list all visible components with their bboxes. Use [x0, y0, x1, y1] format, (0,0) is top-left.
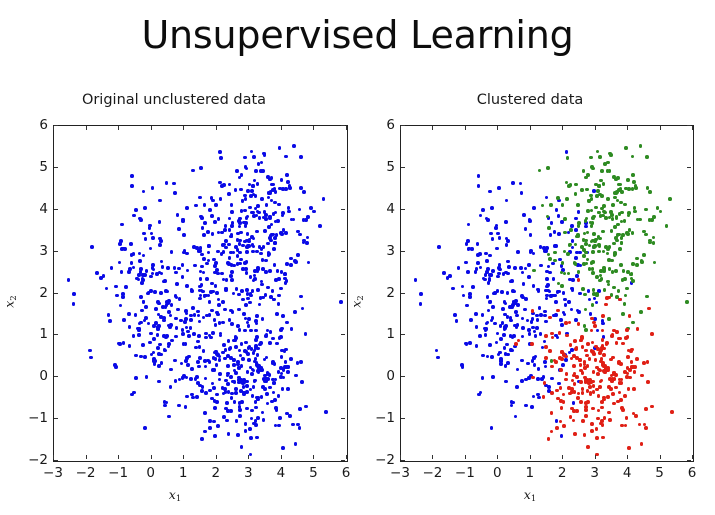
data-point: [567, 300, 571, 304]
data-point: [613, 377, 617, 381]
data-point: [177, 267, 181, 271]
data-point: [226, 382, 230, 386]
data-point: [210, 214, 214, 218]
data-point: [240, 289, 244, 293]
data-point: [539, 264, 543, 268]
data-point: [509, 319, 513, 323]
x-tick-mark: [216, 455, 217, 459]
y-axis-label-right-sub: 2: [356, 295, 366, 300]
data-point: [615, 341, 619, 345]
data-point: [244, 197, 248, 201]
data-point: [577, 224, 581, 228]
data-point: [577, 310, 581, 314]
data-point: [253, 380, 257, 384]
slide-canvas: Unsupervised Learning Original uncluster…: [0, 0, 715, 515]
data-point: [607, 385, 611, 389]
data-point: [108, 319, 112, 323]
data-point: [275, 342, 279, 346]
data-point: [550, 430, 554, 434]
data-point: [462, 294, 466, 298]
data-point: [532, 395, 536, 399]
data-point: [137, 333, 141, 337]
x-tick-mark: [627, 126, 628, 130]
data-point: [597, 243, 601, 247]
data-point: [481, 354, 485, 358]
data-point: [488, 278, 492, 282]
data-point: [611, 217, 615, 221]
data-point: [249, 329, 253, 333]
data-point: [584, 401, 588, 405]
data-point: [256, 288, 260, 292]
data-point: [90, 245, 94, 249]
data-point: [244, 429, 248, 433]
data-point: [497, 272, 501, 276]
data-point: [237, 219, 241, 223]
data-point: [581, 391, 585, 395]
data-point: [602, 204, 606, 208]
data-point: [124, 285, 128, 289]
data-point: [226, 364, 230, 368]
data-point: [631, 155, 635, 159]
data-point: [270, 400, 274, 404]
data-point: [204, 391, 208, 395]
data-point: [230, 203, 234, 207]
data-point: [234, 387, 238, 391]
data-point: [531, 309, 535, 313]
data-point: [502, 333, 506, 337]
data-point: [576, 396, 580, 400]
data-point: [285, 173, 289, 177]
data-point: [162, 319, 166, 323]
data-point: [600, 406, 604, 410]
data-point: [560, 220, 564, 224]
data-point: [260, 395, 264, 399]
x-tick-label: 5: [655, 465, 664, 481]
data-point: [115, 294, 119, 298]
data-point: [547, 265, 551, 269]
data-point: [583, 293, 587, 297]
data-point: [486, 355, 490, 359]
data-point: [273, 241, 277, 245]
data-point: [495, 247, 499, 251]
data-point: [623, 219, 627, 223]
data-point: [217, 217, 221, 221]
data-point: [601, 436, 605, 440]
data-point: [304, 405, 308, 409]
data-point: [553, 251, 557, 255]
data-point: [504, 220, 508, 224]
data-point: [230, 270, 234, 274]
data-point: [572, 364, 576, 368]
data-point: [281, 314, 285, 318]
data-point: [191, 306, 195, 310]
y-tick-mark: [54, 251, 58, 252]
y-tick-mark: [54, 209, 58, 210]
data-point: [322, 197, 326, 201]
data-point: [187, 334, 191, 338]
data-point: [563, 217, 567, 221]
data-point: [203, 411, 207, 415]
data-point: [123, 247, 127, 251]
data-point: [505, 199, 509, 203]
x-tick-mark: [530, 126, 531, 130]
data-point: [595, 436, 599, 440]
data-point: [551, 336, 555, 340]
data-point: [127, 270, 131, 274]
data-point: [248, 238, 252, 242]
data-point: [619, 201, 623, 205]
data-point: [142, 254, 146, 258]
data-point: [602, 182, 606, 186]
data-point: [208, 360, 212, 364]
data-point: [200, 283, 204, 287]
data-point: [522, 282, 526, 286]
data-point: [578, 292, 582, 296]
data-point: [587, 289, 591, 293]
data-point: [599, 380, 603, 384]
data-point: [107, 313, 111, 317]
data-point: [268, 191, 272, 195]
data-point: [208, 313, 212, 317]
data-point: [152, 337, 156, 341]
data-point: [211, 382, 215, 386]
y-tick-label: −2: [369, 452, 395, 468]
data-point: [279, 335, 283, 339]
data-point: [668, 197, 672, 201]
data-point: [479, 214, 483, 218]
data-point: [544, 356, 548, 360]
data-point: [532, 269, 536, 273]
data-point: [181, 332, 185, 336]
data-point: [512, 300, 516, 304]
data-point: [167, 342, 171, 346]
data-point: [268, 215, 272, 219]
data-point: [167, 415, 171, 419]
data-point: [285, 321, 289, 325]
data-point: [230, 278, 234, 282]
data-point: [259, 169, 263, 173]
data-point: [596, 150, 600, 154]
data-point: [594, 244, 598, 248]
data-point: [565, 197, 569, 201]
data-point: [501, 307, 505, 311]
data-point: [244, 422, 248, 426]
data-point: [524, 297, 528, 301]
data-point: [559, 420, 563, 424]
x-tick-mark: [692, 455, 693, 459]
data-point: [603, 162, 607, 166]
data-point: [150, 232, 154, 236]
data-point: [246, 297, 250, 301]
data-point: [543, 340, 547, 344]
data-point: [591, 350, 595, 354]
data-point: [579, 380, 583, 384]
data-point: [222, 415, 226, 419]
data-point: [543, 249, 547, 253]
data-point: [620, 406, 624, 410]
data-point: [251, 250, 255, 254]
data-point: [543, 360, 547, 364]
data-point: [568, 321, 572, 325]
data-point: [195, 395, 199, 399]
data-point: [598, 385, 602, 389]
data-point: [302, 190, 306, 194]
y-tick-label: 1: [369, 326, 395, 342]
data-point: [670, 410, 674, 414]
data-point: [584, 405, 588, 409]
data-point: [542, 375, 546, 379]
data-point: [272, 247, 276, 251]
data-point: [233, 400, 237, 404]
data-point: [626, 366, 630, 370]
data-point: [265, 356, 269, 360]
data-point: [246, 232, 250, 236]
data-point: [610, 229, 614, 233]
data-point: [577, 210, 581, 214]
x-tick-mark: [497, 126, 498, 130]
data-point: [224, 246, 228, 250]
data-point: [652, 241, 656, 245]
data-point: [626, 335, 630, 339]
data-point: [589, 312, 593, 316]
data-point: [203, 430, 207, 434]
data-point: [261, 296, 265, 300]
data-point: [612, 175, 616, 179]
data-point: [213, 399, 217, 403]
data-point: [156, 300, 160, 304]
data-point: [635, 263, 639, 267]
data-point: [162, 334, 166, 338]
data-point: [217, 303, 221, 307]
data-point: [176, 213, 180, 217]
data-point: [546, 166, 550, 170]
data-point: [278, 416, 282, 420]
x-axis-label-right-text: x: [524, 487, 531, 502]
data-point: [286, 387, 290, 391]
data-point: [639, 144, 643, 148]
data-point: [289, 257, 293, 261]
data-point: [565, 372, 569, 376]
data-point: [166, 266, 170, 270]
data-point: [559, 368, 563, 372]
y-tick-mark: [401, 376, 405, 377]
data-point: [609, 210, 613, 214]
data-point: [284, 360, 288, 364]
data-point: [147, 322, 151, 326]
data-point: [219, 334, 223, 338]
data-point: [301, 307, 305, 311]
data-point: [491, 305, 495, 309]
scatter-plot-unclustered[interactable]: [53, 125, 348, 462]
data-point: [197, 334, 201, 338]
x-tick-mark: [183, 126, 184, 130]
data-point: [576, 203, 580, 207]
data-point: [549, 233, 553, 237]
data-point: [620, 190, 624, 194]
data-point: [290, 327, 294, 331]
data-point: [484, 333, 488, 337]
x-tick-mark: [183, 455, 184, 459]
data-point: [263, 153, 267, 157]
data-point: [582, 254, 586, 258]
data-point: [524, 404, 528, 408]
data-point: [550, 391, 554, 395]
data-point: [192, 332, 196, 336]
data-point: [646, 360, 650, 364]
data-point: [583, 433, 587, 437]
scatter-plot-clustered[interactable]: [400, 125, 694, 462]
data-point: [607, 317, 611, 321]
data-point: [202, 257, 206, 261]
data-point: [591, 167, 595, 171]
data-point: [259, 252, 263, 256]
data-point: [213, 264, 217, 268]
data-point: [215, 363, 219, 367]
data-point: [211, 331, 215, 335]
data-point: [601, 322, 605, 326]
data-point: [524, 267, 528, 271]
data-point: [592, 288, 596, 292]
data-point: [161, 305, 165, 309]
y-tick-mark: [341, 293, 345, 294]
data-point: [491, 375, 495, 379]
y-tick-mark: [687, 251, 691, 252]
data-point: [633, 370, 637, 374]
x-tick-label: 0: [146, 465, 155, 481]
data-point: [635, 357, 639, 361]
data-point: [132, 266, 136, 270]
data-point: [170, 303, 174, 307]
data-point: [134, 376, 138, 380]
data-point: [235, 419, 239, 423]
data-point: [210, 309, 214, 313]
data-point: [478, 334, 482, 338]
data-point: [184, 342, 188, 346]
data-point: [601, 338, 605, 342]
data-point: [208, 426, 212, 430]
data-point: [253, 277, 257, 281]
data-point: [617, 289, 621, 293]
data-point: [618, 298, 622, 302]
data-point: [207, 244, 211, 248]
data-point: [298, 208, 302, 212]
data-point: [477, 393, 481, 397]
data-point: [174, 317, 178, 321]
data-point: [165, 300, 169, 304]
x-axis-label-left-sub: 1: [176, 494, 181, 504]
data-point: [277, 277, 281, 281]
data-point: [571, 239, 575, 243]
data-point: [240, 209, 244, 213]
data-point: [562, 393, 566, 397]
data-point: [564, 378, 568, 382]
data-point: [590, 209, 594, 213]
data-point: [289, 263, 293, 267]
data-point: [591, 303, 595, 307]
data-point: [603, 268, 607, 272]
data-point: [586, 445, 590, 449]
data-point: [625, 287, 629, 291]
data-point: [559, 399, 563, 403]
data-point: [195, 375, 199, 379]
data-point: [261, 385, 265, 389]
data-point: [185, 206, 189, 210]
data-point: [543, 381, 547, 385]
y-tick-mark: [687, 293, 691, 294]
data-point: [510, 400, 514, 404]
data-point: [229, 375, 233, 379]
data-point: [623, 370, 627, 374]
data-point: [134, 208, 138, 212]
data-point: [618, 391, 622, 395]
data-point: [281, 446, 285, 450]
data-point: [533, 363, 537, 367]
data-point: [611, 392, 615, 396]
data-point: [258, 216, 262, 220]
data-point: [435, 349, 439, 353]
data-point: [198, 320, 202, 324]
data-point: [186, 269, 190, 273]
data-point: [481, 376, 485, 380]
data-point: [419, 292, 423, 296]
data-point: [598, 184, 602, 188]
y-tick-mark: [401, 334, 405, 335]
data-point: [580, 336, 584, 340]
data-point: [205, 262, 209, 266]
data-point: [204, 377, 208, 381]
data-point: [265, 203, 269, 207]
data-point: [198, 356, 202, 360]
data-point: [499, 324, 503, 328]
data-point: [224, 287, 228, 291]
data-point: [608, 245, 612, 249]
data-point: [532, 206, 536, 210]
data-point: [138, 252, 142, 256]
data-point: [266, 242, 270, 246]
data-point: [553, 259, 557, 263]
data-point: [601, 361, 605, 365]
data-point: [296, 361, 300, 365]
data-point: [247, 358, 251, 362]
data-point: [185, 326, 189, 330]
data-point: [573, 432, 577, 436]
data-point: [620, 211, 624, 215]
data-point: [259, 341, 263, 345]
data-point: [569, 343, 573, 347]
data-point: [624, 146, 628, 150]
data-point: [595, 294, 599, 298]
data-point: [560, 406, 564, 410]
data-point: [186, 363, 190, 367]
data-point: [510, 404, 514, 408]
data-point: [573, 261, 577, 265]
data-point: [631, 279, 635, 283]
data-point: [606, 395, 610, 399]
data-point: [225, 401, 229, 405]
data-point: [243, 261, 247, 265]
data-point: [503, 313, 507, 317]
data-point: [156, 346, 160, 350]
x-tick-mark: [86, 126, 87, 130]
data-point: [130, 261, 134, 265]
data-point: [292, 144, 296, 148]
data-point: [481, 313, 485, 317]
data-point: [213, 406, 217, 410]
data-point: [548, 349, 552, 353]
data-point: [198, 297, 202, 301]
data-point: [468, 341, 472, 345]
data-point: [185, 376, 189, 380]
